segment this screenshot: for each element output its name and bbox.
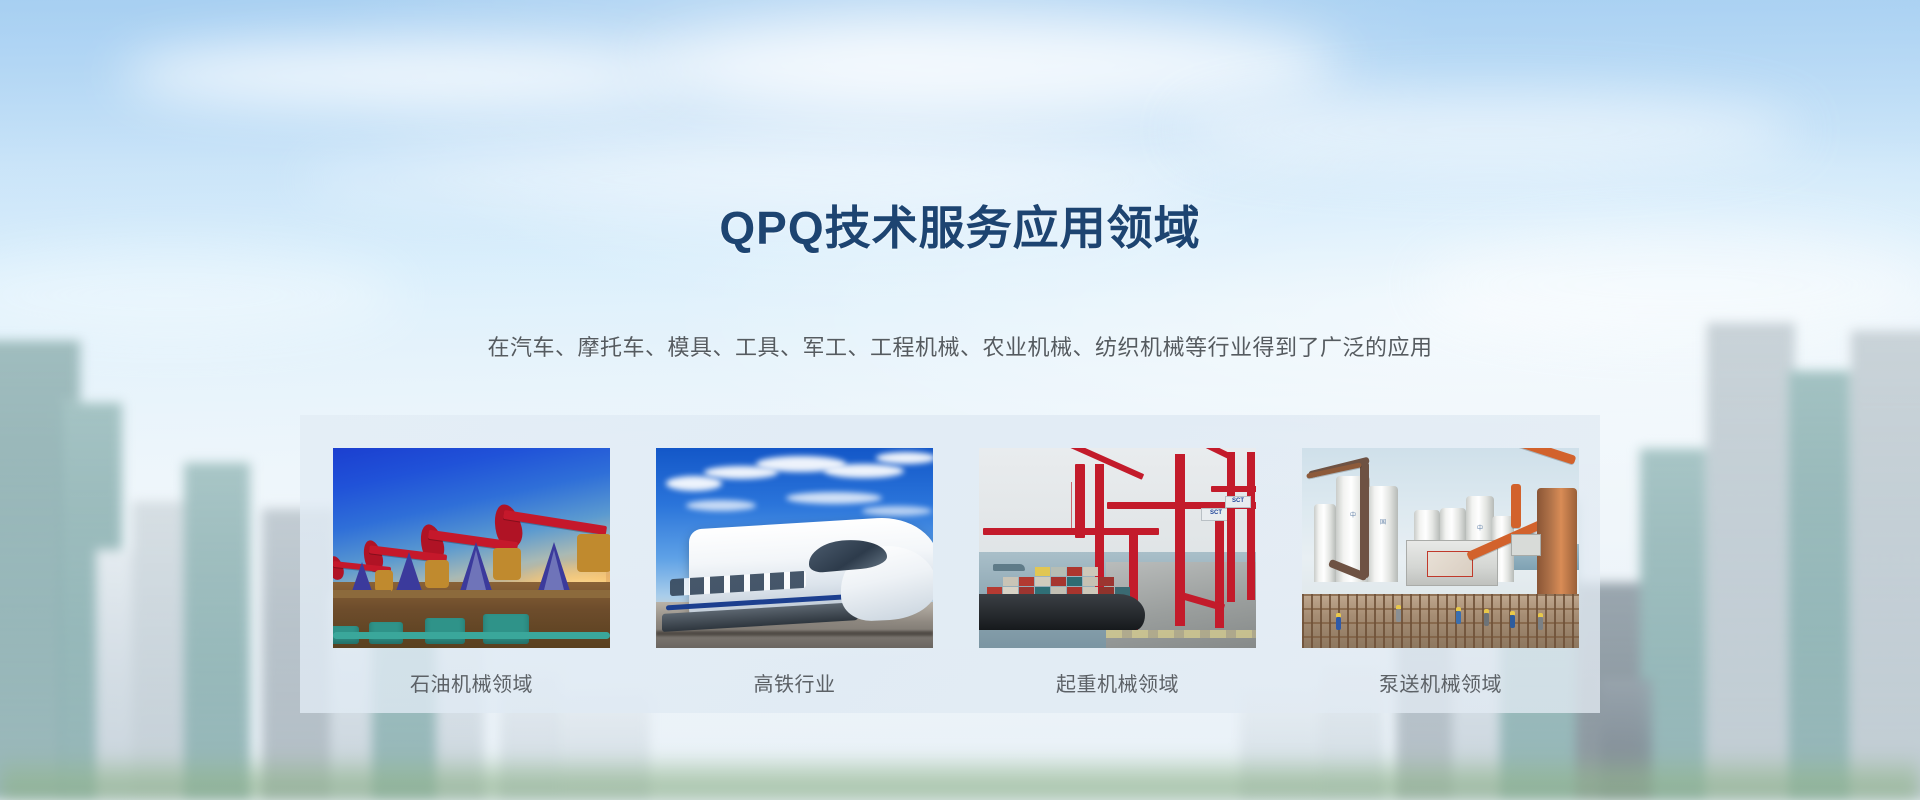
wellhead-equipment-3 xyxy=(425,618,465,644)
worker-5 xyxy=(1510,615,1515,628)
card-image-oil-pumpjacks xyxy=(333,448,610,648)
container-ship xyxy=(979,594,1145,630)
page-content: QPQ技术服务应用领域 在汽车、摩托车、模具、工具、军工、工程机械、农业机械、纺… xyxy=(0,0,1920,800)
card-pumping-machinery[interactable]: 中 国 中 xyxy=(1302,448,1579,697)
page-subtitle: 在汽车、摩托车、模具、工具、军工、工程机械、农业机械、纺织机械等行业得到了广泛的… xyxy=(0,330,1920,362)
card-label-oil: 石油机械领域 xyxy=(333,668,610,697)
card-label-lifting: 起重机械领域 xyxy=(979,668,1256,697)
card-label-pumping: 泵送机械领域 xyxy=(1302,668,1579,697)
page-title: QPQ技术服务应用领域 xyxy=(0,192,1920,258)
pump-mast xyxy=(1537,488,1577,608)
worker-6 xyxy=(1538,617,1543,630)
container-stack xyxy=(983,556,1151,596)
silo-1 xyxy=(1314,504,1336,582)
worker-1 xyxy=(1336,617,1341,630)
pipeline xyxy=(333,632,610,639)
pump-platform xyxy=(1511,534,1541,556)
card-image-high-speed-train xyxy=(656,448,933,648)
wellhead-equipment-4 xyxy=(483,614,529,644)
card-image-concrete-pump: 中 国 中 xyxy=(1302,448,1579,648)
pump-boom-link xyxy=(1511,484,1521,528)
worker-2 xyxy=(1396,609,1401,622)
worker-4 xyxy=(1484,613,1489,626)
crane-cabin-2: SCT xyxy=(1225,496,1251,508)
card-high-speed-rail[interactable]: 高铁行业 xyxy=(656,448,933,697)
silo-3: 国 xyxy=(1368,486,1398,582)
card-label-rail: 高铁行业 xyxy=(656,668,933,697)
worker-3 xyxy=(1456,611,1461,624)
card-oil-machinery[interactable]: 石油机械领域 xyxy=(333,448,610,697)
card-lifting-machinery[interactable]: SCT SCT xyxy=(979,448,1256,697)
shed-poster xyxy=(1427,551,1473,577)
card-image-port-cranes: SCT SCT xyxy=(979,448,1256,648)
application-card-list: 石油机械领域 高铁行业 xyxy=(333,448,1569,697)
